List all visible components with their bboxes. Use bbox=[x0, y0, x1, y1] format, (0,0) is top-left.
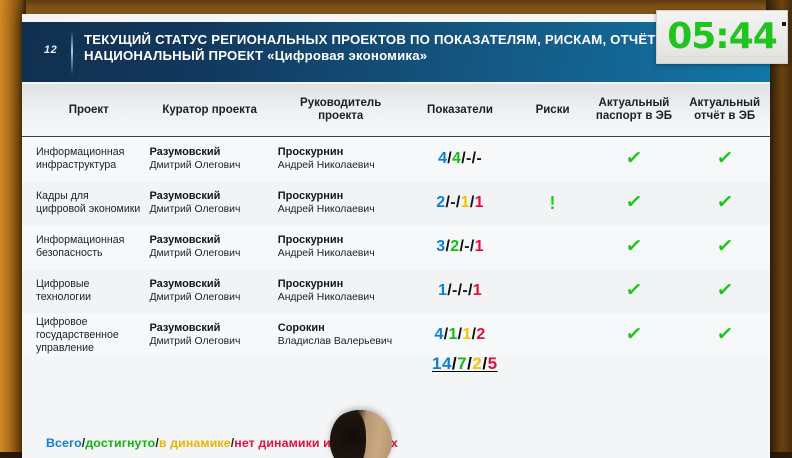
project-name: Информационная инфраструктура bbox=[36, 146, 141, 172]
curator-firstname: Дмитрий Олегович bbox=[149, 335, 269, 348]
project-name: Цифровое государственное управление bbox=[36, 316, 141, 355]
column-header-report: Актуальный отчёт в ЭБ bbox=[679, 97, 770, 123]
project-name: Цифровые технологии bbox=[36, 278, 141, 304]
leader-lastname: Проскурнин bbox=[278, 146, 404, 159]
cell-leader: ПроскурнинАндрей Николаевич bbox=[270, 190, 404, 216]
check-icon: ✓ bbox=[715, 192, 734, 213]
legend-total: Всего bbox=[46, 436, 82, 450]
cell-passport: ✓ bbox=[589, 325, 680, 345]
cell-report: ✓ bbox=[679, 193, 770, 213]
cell-curator: РазумовскийДмитрий Олегович bbox=[141, 234, 269, 260]
totals-indicators: 14/7/2/5 bbox=[432, 354, 498, 374]
check-icon: ✓ bbox=[715, 148, 734, 169]
curator-firstname: Дмитрий Олегович bbox=[149, 203, 269, 216]
table-row: Цифровое государственное управлениеРазум… bbox=[22, 313, 770, 357]
indicator-3: 1 bbox=[473, 282, 482, 299]
total-indicator-1: 7 bbox=[457, 354, 467, 373]
cell-report: ✓ bbox=[679, 281, 770, 301]
curator-lastname: Разумовский bbox=[149, 146, 269, 159]
cell-leader: ПроскурнинАндрей Николаевич bbox=[270, 278, 404, 304]
countdown-timer-value: 05:44 bbox=[667, 19, 777, 55]
slide-number: 12 bbox=[44, 44, 57, 56]
leader-firstname: Андрей Николаевич bbox=[278, 291, 404, 304]
cell-passport: ✓ bbox=[589, 193, 680, 213]
curator-firstname: Дмитрий Олегович bbox=[149, 247, 269, 260]
curator-lastname: Разумовский bbox=[149, 234, 269, 247]
leader-lastname: Проскурнин bbox=[278, 190, 404, 203]
indicator-0: 4 bbox=[438, 150, 447, 167]
column-header-leader: Руководитель проекта bbox=[270, 97, 404, 123]
cell-indicators: 4/1/1/2 bbox=[404, 326, 517, 344]
indicator-0: 1 bbox=[438, 282, 447, 299]
curator-firstname: Дмитрий Олегович bbox=[149, 291, 269, 304]
indicator-group: 3/2/-/1 bbox=[436, 238, 484, 255]
column-header-passport: Актуальный паспорт в ЭБ bbox=[589, 97, 680, 123]
cell-indicators: 2/-/1/1 bbox=[404, 194, 517, 212]
check-icon: ✓ bbox=[715, 280, 734, 301]
cell-indicators: 4/4/-/- bbox=[404, 150, 517, 168]
photo-of-presentation-screen: 12 ТЕКУЩИЙ СТАТУС РЕГИОНАЛЬНЫХ ПРОЕКТОВ … bbox=[0, 0, 792, 458]
cell-passport: ✓ bbox=[589, 237, 680, 257]
cell-curator: РазумовскийДмитрий Олегович bbox=[141, 190, 269, 216]
legend-achieved: достигнуто bbox=[85, 436, 155, 450]
cell-risk: ! bbox=[516, 193, 588, 214]
cell-curator: РазумовскийДмитрий Олегович bbox=[141, 278, 269, 304]
project-name: Информационная безопасность bbox=[36, 234, 141, 260]
legend-in-progress: в динамике bbox=[159, 436, 231, 450]
indicator-3: 2 bbox=[476, 326, 485, 343]
curator-firstname: Дмитрий Олегович bbox=[149, 159, 269, 172]
leader-lastname: Проскурнин bbox=[278, 234, 404, 247]
cell-passport: ✓ bbox=[589, 149, 680, 169]
leader-firstname: Андрей Николаевич bbox=[278, 247, 404, 260]
indicator-group: 2/-/1/1 bbox=[436, 194, 484, 211]
leader-firstname: Владислав Валерьевич bbox=[278, 335, 404, 348]
cell-curator: РазумовскийДмитрий Олегович bbox=[141, 146, 269, 172]
cell-project: Информационная инфраструктура bbox=[22, 146, 141, 172]
risk-alert-icon: ! bbox=[550, 193, 556, 213]
timer-indicator-dot bbox=[782, 22, 786, 26]
indicator-3: 1 bbox=[475, 238, 484, 255]
leader-lastname: Проскурнин bbox=[278, 278, 404, 291]
cell-project: Цифровое государственное управление bbox=[22, 316, 141, 355]
cell-leader: ПроскурнинАндрей Николаевич bbox=[270, 146, 404, 172]
cell-project: Информационная безопасность bbox=[22, 234, 141, 260]
total-indicator-0: 14 bbox=[432, 354, 452, 373]
indicator-group: 4/4/-/- bbox=[438, 150, 482, 167]
page-title-line1: ТЕКУЩИЙ СТАТУС РЕГИОНАЛЬНЫХ ПРОЕКТОВ ПО … bbox=[84, 32, 744, 48]
leader-firstname: Андрей Николаевич bbox=[278, 203, 404, 216]
leader-lastname: Сорокин bbox=[278, 322, 404, 335]
indicator-2: 1 bbox=[461, 194, 470, 211]
cell-report: ✓ bbox=[679, 325, 770, 345]
column-header-indicators: Показатели bbox=[404, 104, 517, 117]
indicator-group: 4/1/1/2 bbox=[435, 326, 486, 343]
indicator-3: 1 bbox=[475, 194, 484, 211]
table-header-row: Проект Куратор проекта Руководитель прое… bbox=[22, 84, 770, 137]
status-table: Проект Куратор проекта Руководитель прое… bbox=[22, 84, 770, 357]
table-body: Информационная инфраструктураРазумовский… bbox=[22, 137, 770, 357]
indicator-group: 1/-/-/1 bbox=[438, 282, 482, 299]
page-title: ТЕКУЩИЙ СТАТУС РЕГИОНАЛЬНЫХ ПРОЕКТОВ ПО … bbox=[84, 32, 744, 64]
cell-indicators: 3/2/-/1 bbox=[404, 238, 517, 256]
leader-firstname: Андрей Николаевич bbox=[278, 159, 404, 172]
page-title-line2: НАЦИОНАЛЬНЫЙ ПРОЕКТ «Цифровая экономика» bbox=[84, 48, 744, 64]
column-header-curator: Куратор проекта bbox=[141, 104, 269, 117]
column-header-risks: Риски bbox=[516, 104, 588, 117]
table-row: Цифровые технологииРазумовскийДмитрий Ол… bbox=[22, 269, 770, 313]
cell-project: Кадры для цифровой экономики bbox=[22, 190, 141, 216]
curator-lastname: Разумовский bbox=[149, 190, 269, 203]
cell-curator: РазумовскийДмитрий Олегович bbox=[141, 322, 269, 348]
table-row: Информационная инфраструктураРазумовский… bbox=[22, 137, 770, 181]
indicator-1: 4 bbox=[452, 150, 461, 167]
check-icon: ✓ bbox=[715, 236, 734, 257]
curator-lastname: Разумовский bbox=[149, 278, 269, 291]
countdown-timer: 05:44 bbox=[656, 10, 788, 64]
total-indicator-2: 2 bbox=[472, 354, 482, 373]
cell-indicators: 1/-/-/1 bbox=[404, 282, 517, 300]
indicator-2: 1 bbox=[462, 326, 471, 343]
check-icon: ✓ bbox=[625, 280, 644, 301]
cell-report: ✓ bbox=[679, 149, 770, 169]
total-indicator-3: 5 bbox=[488, 354, 498, 373]
check-icon: ✓ bbox=[625, 192, 644, 213]
cell-leader: ПроскурнинАндрей Николаевич bbox=[270, 234, 404, 260]
column-header-project: Проект bbox=[22, 104, 141, 117]
cell-report: ✓ bbox=[679, 237, 770, 257]
cell-leader: СорокинВладислав Валерьевич bbox=[270, 322, 404, 348]
table-row: Кадры для цифровой экономикиРазумовскийД… bbox=[22, 181, 770, 225]
check-icon: ✓ bbox=[625, 148, 644, 169]
check-icon: ✓ bbox=[625, 324, 644, 345]
indicator-0: 4 bbox=[435, 326, 444, 343]
header-divider bbox=[71, 31, 73, 75]
presentation-slide: 12 ТЕКУЩИЙ СТАТУС РЕГИОНАЛЬНЫХ ПРОЕКТОВ … bbox=[22, 14, 770, 458]
cell-passport: ✓ bbox=[589, 281, 680, 301]
cell-project: Цифровые технологии bbox=[22, 278, 141, 304]
check-icon: ✓ bbox=[625, 236, 644, 257]
check-icon: ✓ bbox=[715, 324, 734, 345]
indicator-1: 1 bbox=[448, 326, 457, 343]
curator-lastname: Разумовский bbox=[149, 322, 269, 335]
indicator-3: - bbox=[476, 150, 482, 167]
totals-row: 14/7/2/5 bbox=[22, 354, 770, 374]
project-name: Кадры для цифровой экономики bbox=[36, 190, 141, 216]
table-row: Информационная безопасностьРазумовскийДм… bbox=[22, 225, 770, 269]
